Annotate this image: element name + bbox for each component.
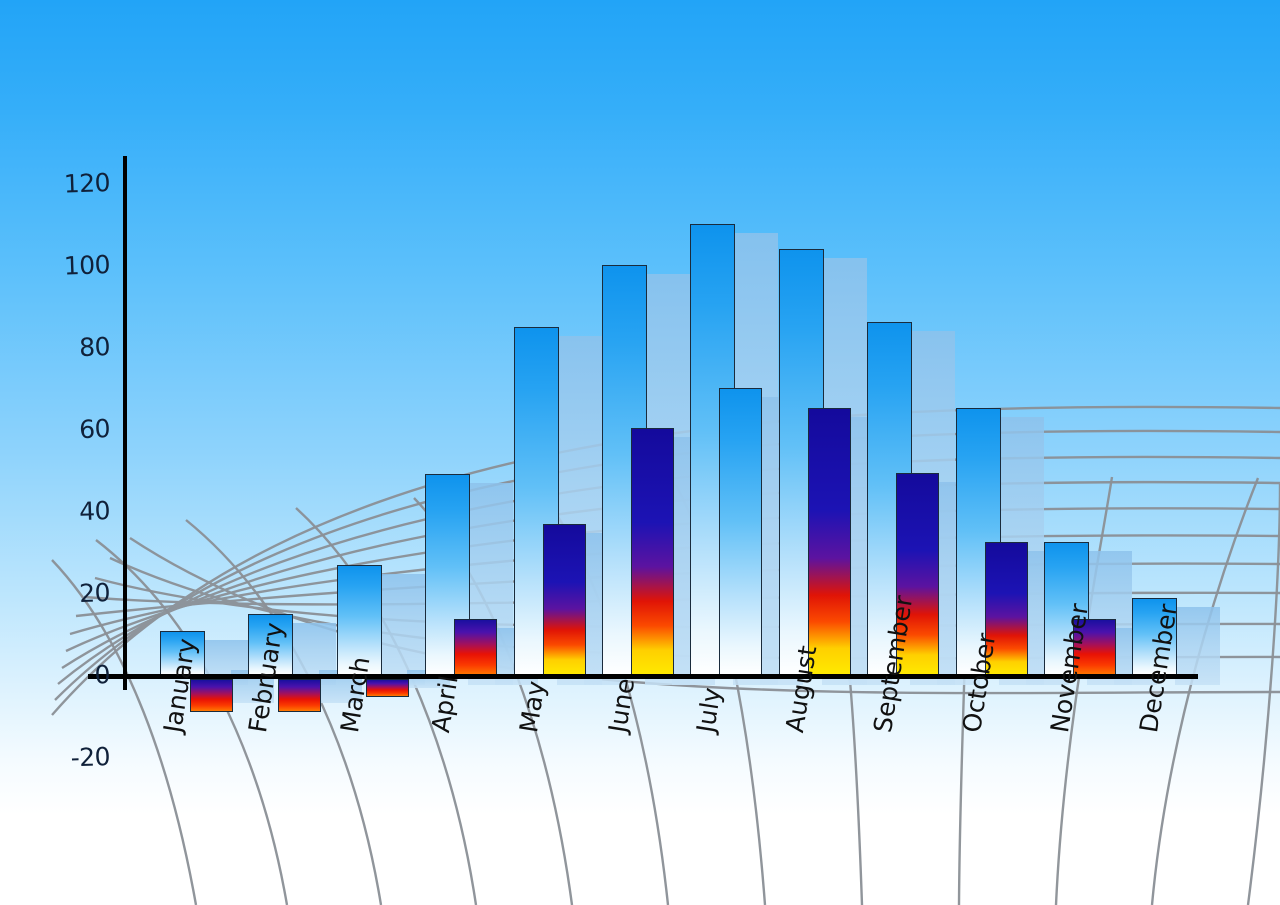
chart-canvas: 120 100 80 60 40 20 0 -20 January Februa… [0,0,1280,905]
bar-july-series2[interactable] [719,388,762,676]
bar-february-series2[interactable] [278,679,321,712]
bar-may-series2[interactable] [543,524,586,676]
bar-face [631,428,674,676]
plot-area: 120 100 80 60 40 20 0 -20 January Februa… [0,0,1280,905]
bar-face [808,408,851,676]
x-label-july: July [691,686,727,735]
y-axis-line [123,156,127,690]
bar-april-series2[interactable] [454,619,497,676]
x-label-may: May [514,679,551,735]
y-tick-label-60: 60 [40,414,111,445]
bar-face [366,679,409,697]
bar-face [719,388,762,676]
bar-face [543,524,586,676]
y-tick-label-40: 40 [40,496,111,527]
y-tick-label-20: 20 [40,578,111,609]
bar-june-series2[interactable] [631,428,674,676]
bar-august-series2[interactable] [808,408,851,676]
bar-shadow [380,574,425,685]
bar-face [278,679,321,712]
bar-face [190,679,233,712]
y-tick-label-minus-20: -20 [30,742,111,774]
y-tick-label-120: 120 [40,168,111,199]
y-tick-label-80: 80 [40,332,111,363]
bar-march-series2[interactable] [366,679,409,697]
bar-face [454,619,497,676]
y-tick-label-0: 0 [40,660,111,691]
bar-january-series2[interactable] [190,679,233,712]
y-tick-label-100: 100 [40,250,111,281]
